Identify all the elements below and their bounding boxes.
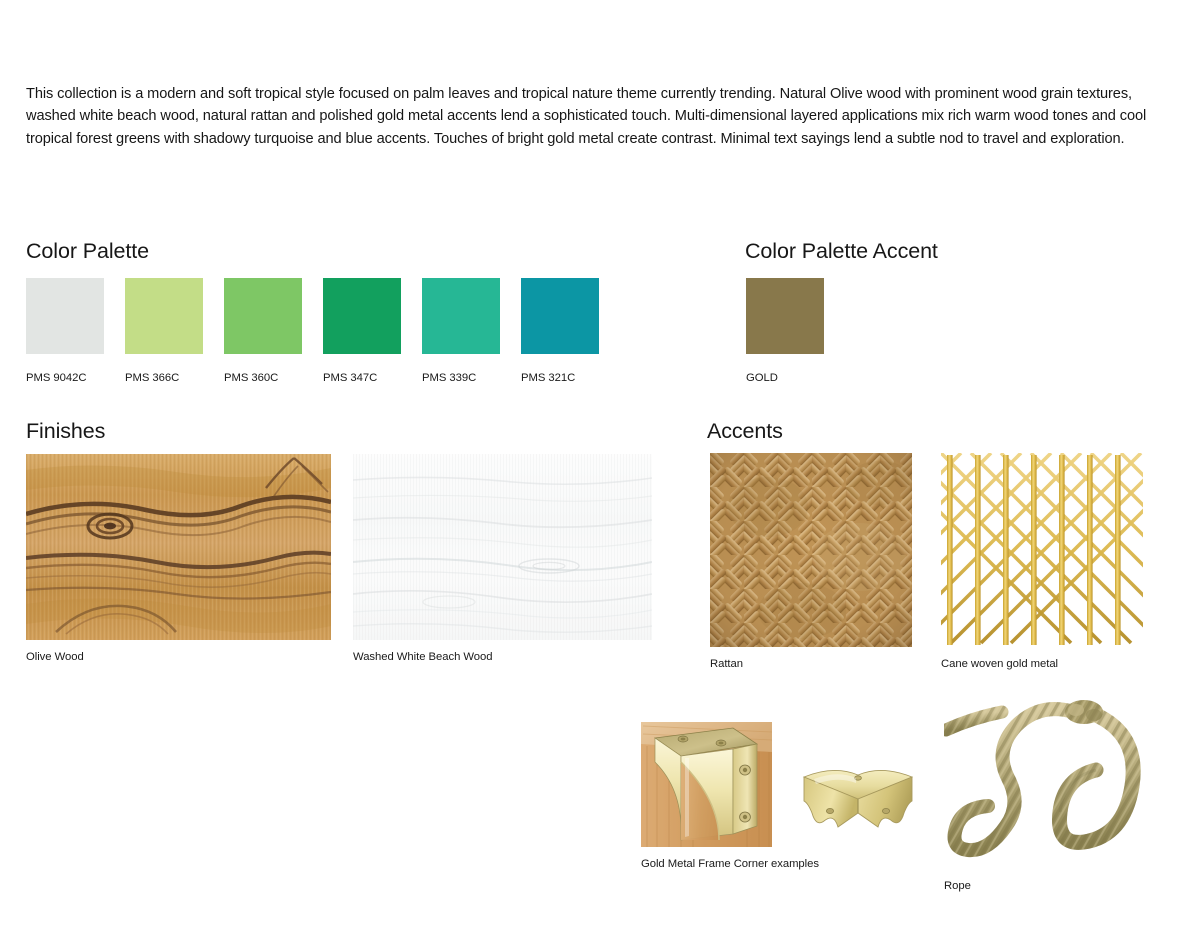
accent-label: Gold Metal Frame Corner examples	[641, 858, 922, 870]
twisted-rope-photo	[944, 700, 1144, 872]
color-swatch[interactable]: PMS 9042C	[26, 278, 104, 384]
color-swatch[interactable]: PMS 366C	[125, 278, 203, 384]
color-palette-swatches: PMS 9042C PMS 366C PMS 360C PMS 347C PMS…	[26, 278, 599, 384]
accents-heading: Accents	[707, 419, 783, 444]
accent-label: Cane woven gold metal	[941, 658, 1143, 670]
color-swatch-label: PMS 339C	[422, 372, 500, 384]
finishes-heading: Finishes	[26, 419, 105, 444]
color-chip	[323, 278, 401, 354]
color-swatch-label: PMS 9042C	[26, 372, 104, 384]
color-chip	[224, 278, 302, 354]
rattan-weave-texture	[710, 453, 912, 647]
cane-lattice-texture	[941, 453, 1143, 647]
olive-wood-texture	[26, 454, 331, 640]
finish-label: Olive Wood	[26, 651, 331, 663]
accent-tile-gold-metal-frame-corners[interactable]: Gold Metal Frame Corner examples	[641, 722, 922, 870]
accent-tile-rattan[interactable]: Rattan	[710, 453, 912, 670]
mood-board-page: This collection is a modern and soft tro…	[0, 0, 1200, 927]
color-swatch[interactable]: PMS 339C	[422, 278, 500, 384]
intro-paragraph: This collection is a modern and soft tro…	[26, 83, 1174, 151]
color-swatch[interactable]: PMS 321C	[521, 278, 599, 384]
accent-tile-cane-woven-gold-metal[interactable]: Cane woven gold metal	[941, 453, 1143, 670]
accent-tile-rope[interactable]: Rope	[944, 700, 1144, 892]
color-palette-accent-swatches: GOLD	[746, 278, 824, 384]
gold-corner-bracket-photo	[641, 722, 922, 847]
color-swatch-label: PMS 321C	[521, 372, 599, 384]
color-chip	[746, 278, 824, 354]
finish-tile-washed-white-beach-wood[interactable]: Washed White Beach Wood	[353, 454, 652, 663]
finish-label: Washed White Beach Wood	[353, 651, 652, 663]
color-chip	[26, 278, 104, 354]
color-swatch-label: PMS 366C	[125, 372, 203, 384]
color-chip	[521, 278, 599, 354]
color-chip	[125, 278, 203, 354]
finish-tile-olive-wood[interactable]: Olive Wood	[26, 454, 331, 663]
color-palette-accent-heading: Color Palette Accent	[745, 239, 938, 264]
accent-color-swatch[interactable]: GOLD	[746, 278, 824, 384]
color-swatch-label: PMS 347C	[323, 372, 401, 384]
color-swatch-label: PMS 360C	[224, 372, 302, 384]
color-chip	[422, 278, 500, 354]
accent-label: Rope	[944, 880, 1144, 892]
color-swatch[interactable]: PMS 360C	[224, 278, 302, 384]
accent-label: Rattan	[710, 658, 912, 670]
washed-white-beach-wood-texture	[353, 454, 652, 640]
color-swatch[interactable]: PMS 347C	[323, 278, 401, 384]
color-palette-heading: Color Palette	[26, 239, 149, 264]
accent-color-swatch-label: GOLD	[746, 372, 824, 384]
